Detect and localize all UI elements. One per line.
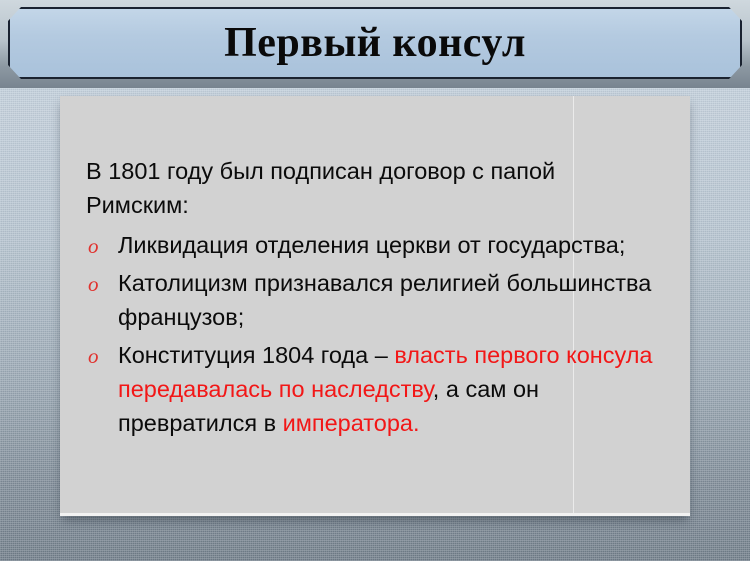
- title-banner-plate: Первый консул: [8, 7, 742, 79]
- bullet-o-icon: o: [88, 339, 108, 373]
- page-title: Первый консул: [224, 22, 526, 64]
- list-item-text: Католицизм признавался религией большинс…: [118, 270, 651, 330]
- content-panel: В 1801 году был подписан договор с папой…: [60, 96, 690, 516]
- intro-paragraph: В 1801 году был подписан договор с папой…: [86, 154, 606, 222]
- list-item-text: Конституция 1804 года – власть первого к…: [118, 342, 653, 436]
- list-item: o Конституция 1804 года – власть первого…: [86, 338, 666, 440]
- list-item-text: Ликвидация отделения церкви от государст…: [118, 232, 625, 258]
- text-segment: Конституция 1804 года –: [118, 342, 394, 368]
- list-item: o Католицизм признавался религией больши…: [86, 266, 666, 334]
- text-segment-highlight: императора.: [283, 410, 420, 436]
- bullet-list: o Ликвидация отделения церкви от государ…: [86, 228, 666, 440]
- bullet-o-icon: o: [88, 229, 108, 263]
- text-segment: Католицизм признавался религией большинс…: [118, 270, 651, 330]
- title-banner: Первый консул: [0, 0, 750, 88]
- slide-body: В 1801 году был подписан договор с папой…: [86, 154, 666, 444]
- text-segment: Ликвидация отделения церкви от государст…: [118, 232, 625, 258]
- list-item: o Ликвидация отделения церкви от государ…: [86, 228, 666, 262]
- slide-canvas: Первый консул В 1801 году был подписан д…: [0, 0, 750, 561]
- bullet-o-icon: o: [88, 267, 108, 301]
